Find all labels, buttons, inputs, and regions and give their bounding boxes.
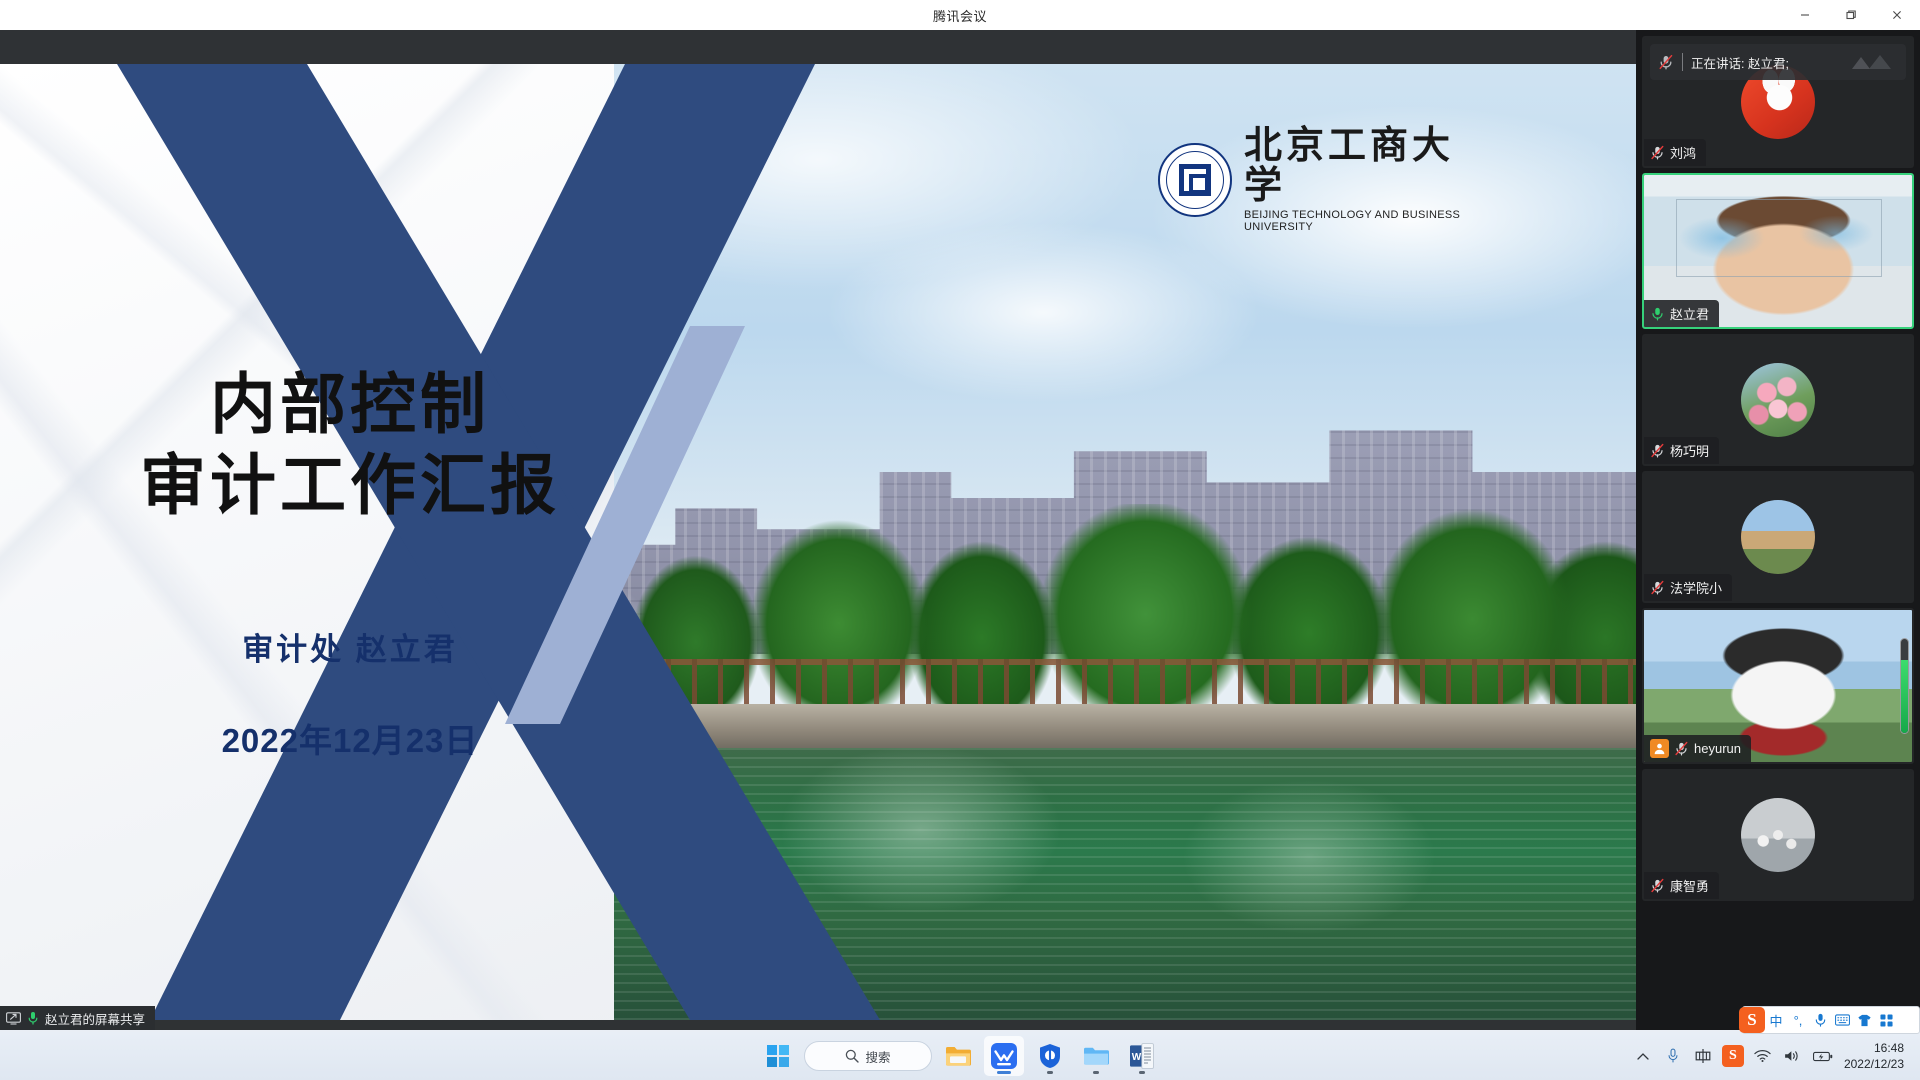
- clock-time: 16:48: [1874, 1040, 1904, 1056]
- restore-button[interactable]: [1828, 0, 1874, 30]
- host-badge-icon: [1650, 739, 1669, 758]
- audio-wave-icon: [1852, 53, 1898, 71]
- slide-title-line-2: 审计工作汇报: [90, 445, 610, 526]
- photos-icon: [1083, 1044, 1109, 1068]
- windows-taskbar: 搜索: [0, 1032, 1920, 1080]
- mic-muted-icon: [1650, 878, 1665, 893]
- mic-muted-icon: [1650, 145, 1665, 160]
- participant-nameplate: 法学院小: [1644, 574, 1732, 601]
- word-icon: W: [1130, 1043, 1154, 1069]
- participant-nameplate: 刘鸿: [1644, 139, 1706, 166]
- screen-share-icon: [6, 1012, 21, 1025]
- participant-name: 法学院小: [1670, 578, 1722, 597]
- mic-on-icon: [1650, 306, 1665, 321]
- punctuation-icon[interactable]: °,: [1787, 1007, 1809, 1033]
- system-tray: S: [1628, 1032, 1920, 1080]
- shield-icon: [1038, 1043, 1062, 1069]
- participant-nameplate: heyurun: [1644, 735, 1751, 762]
- screen: 腾讯会议: [0, 0, 1920, 1080]
- participant-nameplate: 赵立君: [1644, 300, 1719, 327]
- slide-title-line-1: 内部控制: [90, 364, 610, 445]
- volume-meter: [1900, 638, 1909, 734]
- mic-muted-icon: [1674, 741, 1689, 756]
- avatar: [1741, 363, 1815, 437]
- tencent-meeting-icon: [991, 1043, 1017, 1069]
- battery-charging-icon[interactable]: [1808, 1036, 1838, 1076]
- meeting-window: 北京工商大学 BEIJING TECHNOLOGY AND BUSINESS U…: [0, 30, 1920, 1030]
- photos-button[interactable]: [1076, 1036, 1116, 1076]
- word-button[interactable]: W: [1122, 1036, 1162, 1076]
- chevron-up-icon[interactable]: [1628, 1036, 1658, 1076]
- mic-on-icon: [27, 1011, 39, 1025]
- windows-logo-icon: [767, 1045, 789, 1067]
- participant-nameplate: 杨巧明: [1644, 437, 1719, 464]
- mic-muted-icon: [1650, 443, 1665, 458]
- participant-name: heyurun: [1694, 741, 1741, 756]
- window-controls: [1782, 0, 1920, 30]
- microphone-icon[interactable]: [1658, 1036, 1688, 1076]
- mic-muted-icon: [1658, 54, 1674, 70]
- window-title: 腾讯会议: [933, 6, 987, 25]
- participant-name: 杨巧明: [1670, 441, 1709, 460]
- taskbar-search-label: 搜索: [865, 1047, 890, 1066]
- participant-nameplate: 康智勇: [1644, 872, 1719, 899]
- university-seal-icon: [1158, 143, 1232, 217]
- window-title-bar: 腾讯会议: [0, 0, 1920, 30]
- close-button[interactable]: [1874, 0, 1920, 30]
- file-explorer-button[interactable]: [938, 1036, 978, 1076]
- participant-name: 赵立君: [1670, 304, 1709, 323]
- participant-tile[interactable]: 康智勇: [1642, 769, 1914, 901]
- share-indicator-label: 赵立君的屏幕共享: [45, 1009, 145, 1028]
- tencent-meeting-button[interactable]: [984, 1036, 1024, 1076]
- avatar: [1741, 798, 1815, 872]
- participant-tile[interactable]: heyurun: [1642, 608, 1914, 764]
- participant-tile[interactable]: 法学院小: [1642, 471, 1914, 603]
- university-name-en: BEIJING TECHNOLOGY AND BUSINESS UNIVERSI…: [1244, 209, 1478, 233]
- participant-tile[interactable]: 赵立君: [1642, 173, 1914, 329]
- volume-icon[interactable]: [1778, 1036, 1808, 1076]
- ime-chinese-icon[interactable]: [1688, 1036, 1718, 1076]
- search-icon: [845, 1049, 859, 1063]
- lenovo-manager-button[interactable]: [1030, 1036, 1070, 1076]
- skin-icon[interactable]: [1853, 1007, 1875, 1033]
- screen-share-indicator: 赵立君的屏幕共享: [0, 1006, 155, 1030]
- participant-tile[interactable]: 杨巧明: [1642, 334, 1914, 466]
- clock-date: 2022/12/23: [1844, 1056, 1904, 1072]
- taskbar-search[interactable]: 搜索: [804, 1041, 932, 1071]
- wifi-icon[interactable]: [1748, 1036, 1778, 1076]
- speaking-banner-label: 正在讲话: 赵立君;: [1691, 53, 1789, 72]
- sogou-ime-toolbar[interactable]: S 中 °,: [1742, 1006, 1920, 1034]
- chinese-mode-icon[interactable]: 中: [1765, 1007, 1787, 1033]
- slide-subtitle: 审计处 赵立君: [90, 624, 610, 669]
- sogou-icon[interactable]: S: [1739, 1007, 1765, 1033]
- soft-keyboard-icon[interactable]: [1831, 1007, 1853, 1033]
- sogou-icon[interactable]: S: [1718, 1036, 1748, 1076]
- taskbar-center-group: 搜索: [758, 1036, 1162, 1076]
- speaking-banner: 正在讲话: 赵立君;: [1650, 44, 1906, 80]
- avatar: [1741, 500, 1815, 574]
- slide-date: 2022年12月23日: [90, 714, 610, 762]
- svg-text:W: W: [1132, 1052, 1142, 1063]
- taskbar-clock[interactable]: 16:48 2022/12/23: [1838, 1040, 1914, 1072]
- slide-title: 内部控制 审计工作汇报: [90, 364, 610, 525]
- university-name-cn: 北京工商大学: [1244, 127, 1478, 207]
- participant-name: 刘鸿: [1670, 143, 1696, 162]
- toolbox-icon[interactable]: [1875, 1007, 1897, 1033]
- participant-name: 康智勇: [1670, 876, 1709, 895]
- university-logo: 北京工商大学 BEIJING TECHNOLOGY AND BUSINESS U…: [1158, 136, 1478, 224]
- presentation-slide: 北京工商大学 BEIJING TECHNOLOGY AND BUSINESS U…: [0, 64, 1636, 1020]
- share-top-bar: [0, 30, 1636, 64]
- shared-screen-stage: 北京工商大学 BEIJING TECHNOLOGY AND BUSINESS U…: [0, 30, 1636, 1030]
- participant-sidebar[interactable]: 正在讲话: 赵立君;: [1636, 30, 1920, 1030]
- start-button[interactable]: [758, 1036, 798, 1076]
- mic-muted-icon: [1650, 580, 1665, 595]
- folder-icon: [945, 1044, 971, 1068]
- voice-input-icon[interactable]: [1809, 1007, 1831, 1033]
- minimize-button[interactable]: [1782, 0, 1828, 30]
